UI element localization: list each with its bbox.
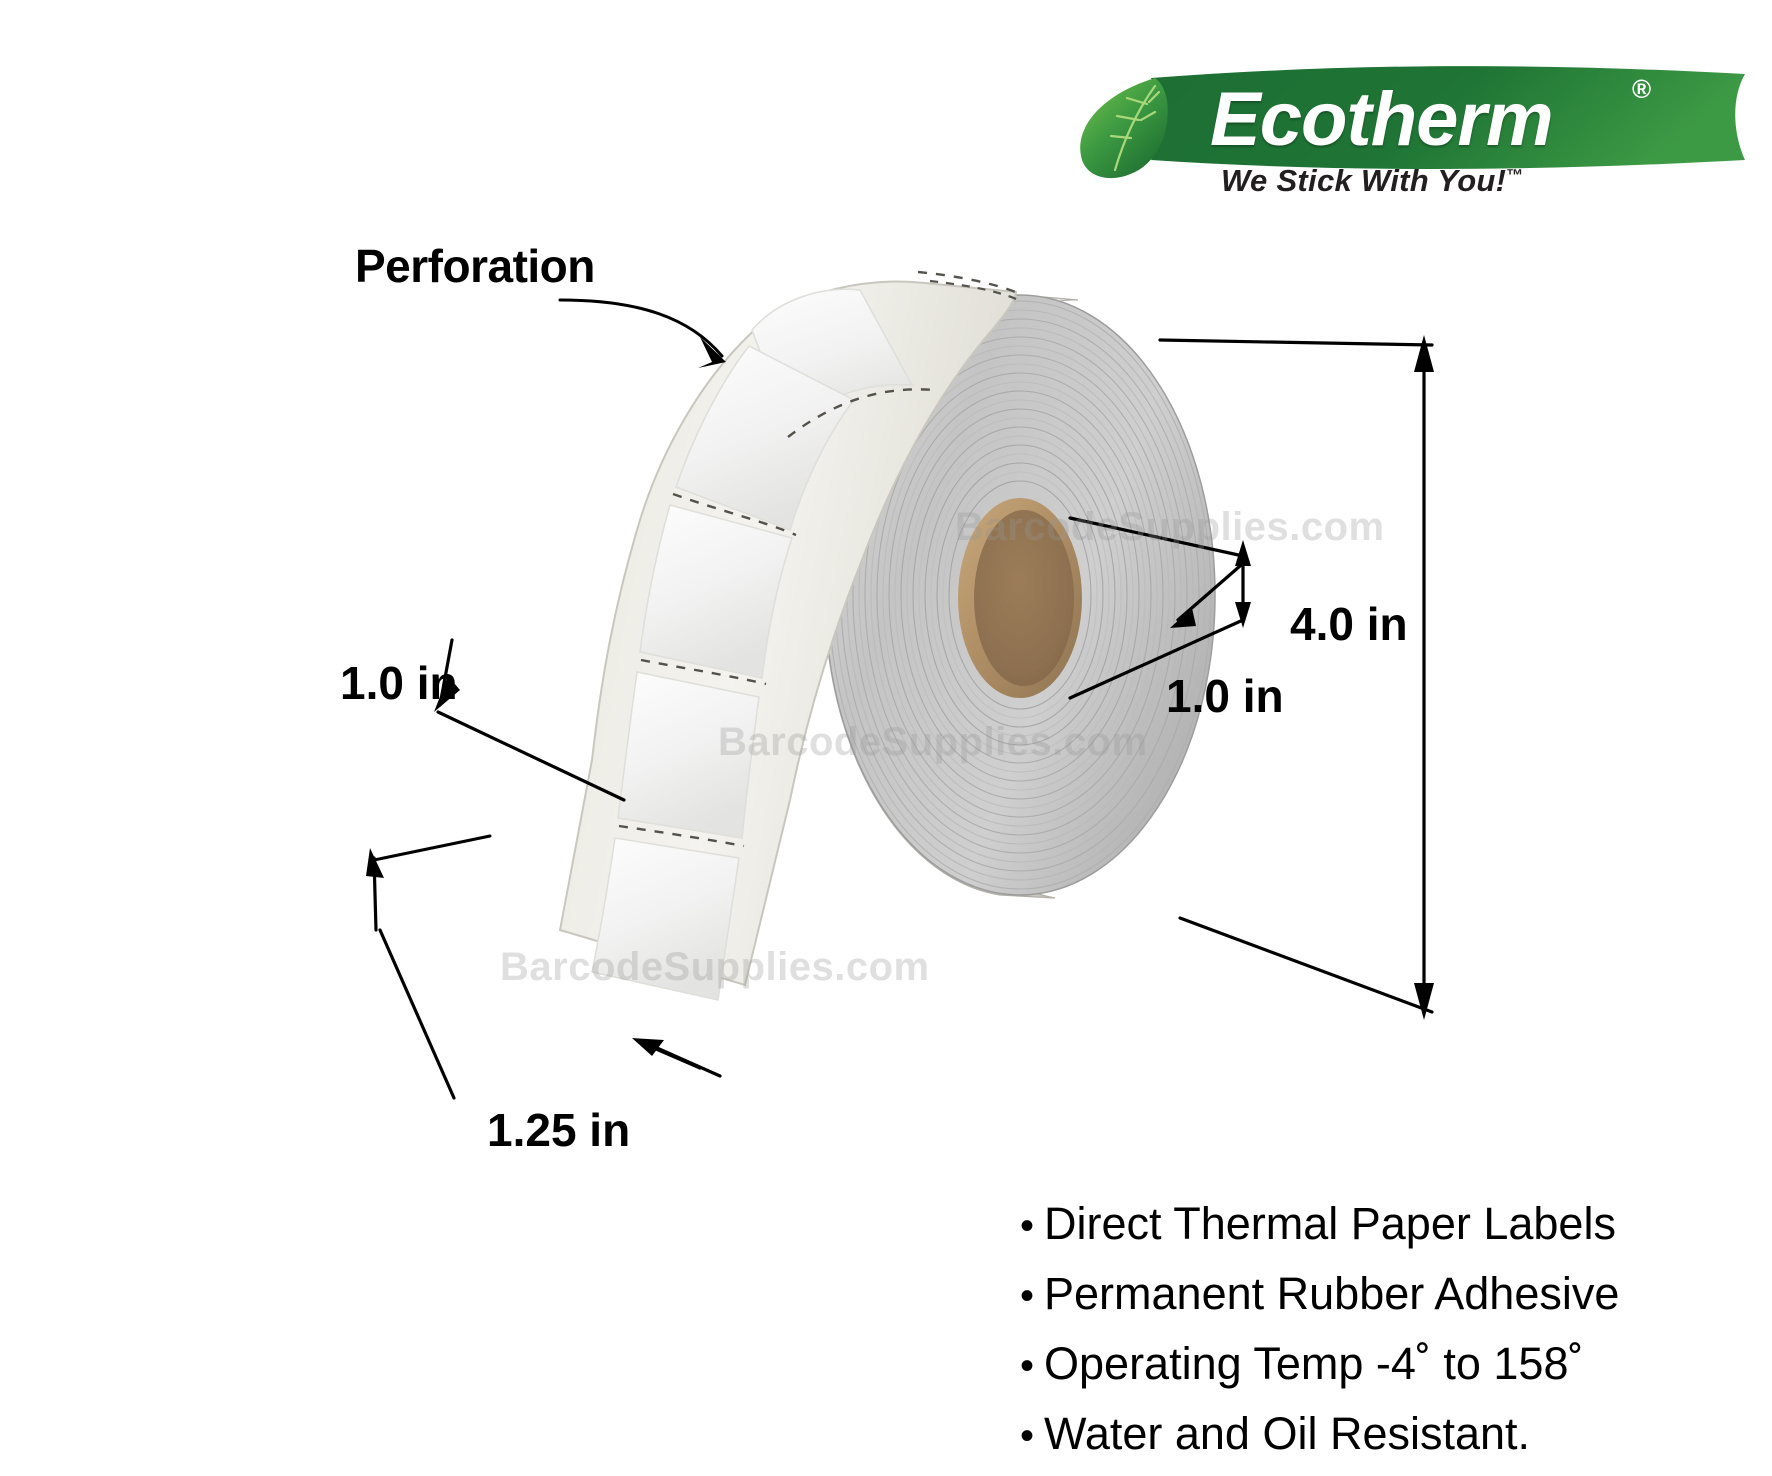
feature-text: Permanent Rubber Adhesive bbox=[1044, 1260, 1619, 1327]
bullet-icon: • bbox=[1020, 1263, 1034, 1330]
feature-text: Operating Temp -4˚ to 158˚ bbox=[1044, 1330, 1583, 1397]
length-leader-diag bbox=[380, 930, 454, 1098]
feature-item: • Direct Thermal Paper Labels bbox=[1020, 1190, 1740, 1260]
feature-item: • Permanent Rubber Adhesive bbox=[1020, 1260, 1740, 1330]
trademark-icon: ™ bbox=[1506, 166, 1523, 185]
length-leader-bottom bbox=[648, 1044, 720, 1076]
label-face bbox=[592, 838, 739, 1000]
outer-leader-top bbox=[1160, 340, 1432, 345]
perforation-leader bbox=[560, 300, 722, 356]
roll-core-hole bbox=[974, 510, 1074, 686]
length-leader-top bbox=[374, 836, 490, 860]
leaf-icon bbox=[1080, 78, 1168, 178]
bullet-icon: • bbox=[1020, 1193, 1034, 1260]
logo-tagline: We Stick With You!™ bbox=[1221, 163, 1741, 199]
label-length-dimension: 1.25 in bbox=[487, 1107, 630, 1153]
core-diameter-dimension: 1.0 in bbox=[1166, 673, 1284, 719]
feature-item: • Operating Temp -4˚ to 158˚ bbox=[1020, 1330, 1740, 1400]
bullet-icon: • bbox=[1020, 1333, 1034, 1400]
outer-leader-bottom bbox=[1180, 918, 1432, 1012]
brand-logo: Ecotherm ® We Stick With You!™ bbox=[1055, 60, 1755, 210]
registered-trademark-icon: ® bbox=[1632, 74, 1651, 105]
feature-text: Water and Oil Resistant. bbox=[1044, 1400, 1530, 1467]
perforation-label: Perforation bbox=[355, 243, 595, 289]
label-face bbox=[618, 672, 759, 838]
bullet-icon: • bbox=[1020, 1403, 1034, 1470]
feature-item: • Water and Oil Resistant. bbox=[1020, 1400, 1740, 1470]
product-diagram: Ecotherm ® We Stick With You!™ Perforati… bbox=[0, 0, 1772, 1476]
roll-diameter-dimension: 4.0 in bbox=[1290, 601, 1408, 647]
feature-list: • Direct Thermal Paper Labels • Permanen… bbox=[1020, 1190, 1740, 1470]
feature-text: Direct Thermal Paper Labels bbox=[1044, 1190, 1616, 1257]
logo-wordmark: Ecotherm bbox=[1210, 76, 1640, 164]
logo-tagline-text: We Stick With You! bbox=[1221, 163, 1506, 198]
label-width-dimension: 1.0 in bbox=[340, 660, 458, 706]
